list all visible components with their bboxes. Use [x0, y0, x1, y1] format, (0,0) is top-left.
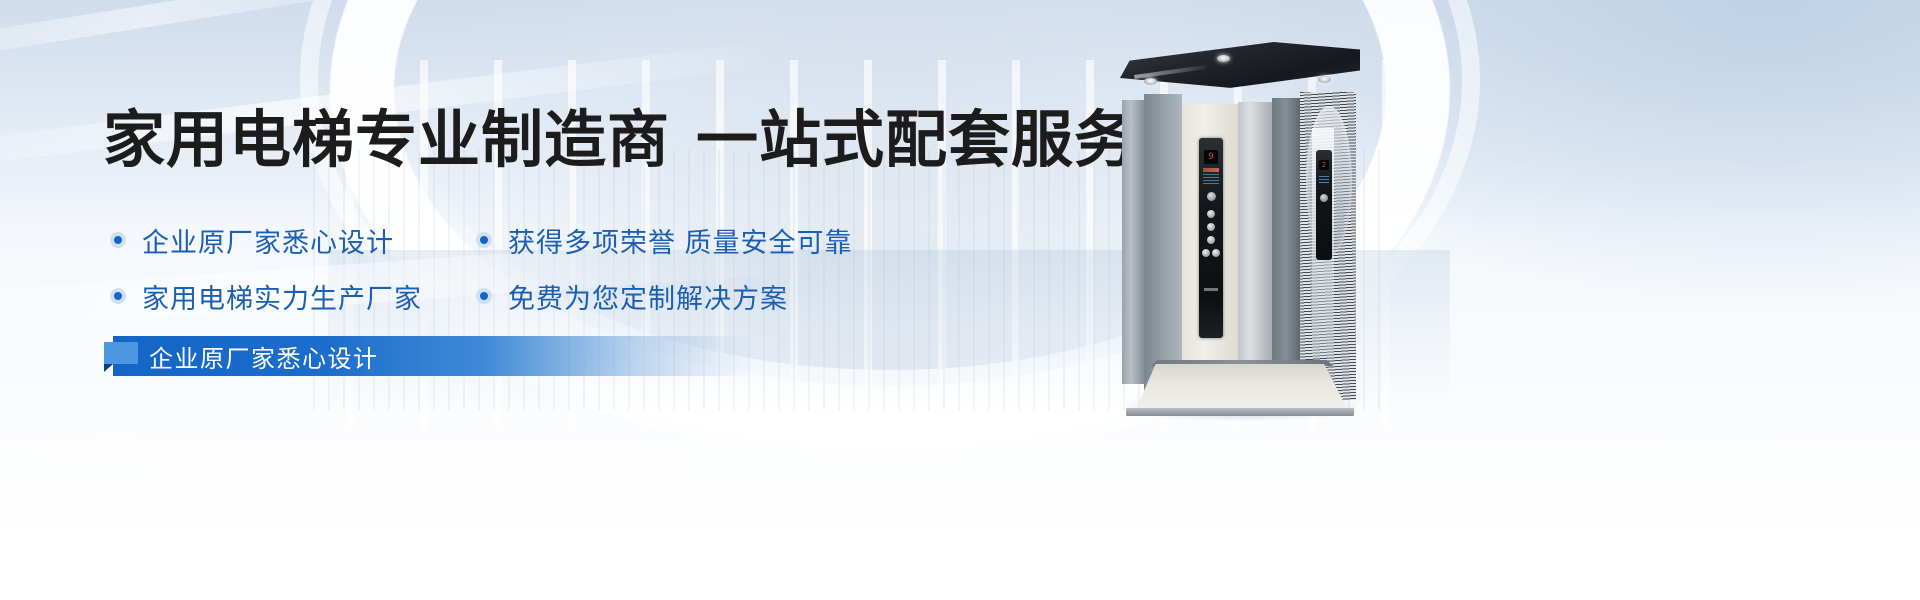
bullet-row: 企业原厂家悉心设计 获得多项荣誉 质量安全可靠 — [110, 212, 900, 268]
cabin-left-panel — [1144, 94, 1182, 396]
bullet-row: 家用电梯实力生产厂家 免费为您定制解决方案 — [110, 268, 900, 324]
highlight-ribbon: 企业原厂家悉心设计 — [113, 336, 753, 376]
panel-brand-logo-icon — [1203, 168, 1219, 172]
cabin-mid-panel — [1238, 102, 1272, 386]
cabin-left-jamb — [1122, 100, 1144, 384]
bullet-dot-icon — [476, 232, 492, 248]
banner-headline: 家用电梯专业制造商一站式配套服务 — [103, 110, 1137, 172]
ribbon-label: 企业原厂家悉心设计 — [149, 336, 379, 376]
bullet-label: 免费为您定制解决方案 — [508, 277, 788, 316]
bullet-item: 家用电梯实力生产厂家 — [110, 277, 476, 316]
floor-indicator-display: 9 — [1204, 150, 1218, 164]
floor-button[interactable] — [1207, 210, 1215, 218]
headline-part-1: 家用电梯专业制造商 — [103, 106, 670, 175]
elevator-cabin-image: 9 2 — [1120, 42, 1360, 414]
bullet-dot-icon — [110, 232, 126, 248]
floor-button[interactable] — [1207, 223, 1215, 231]
bullet-label: 获得多项荣誉 质量安全可靠 — [508, 221, 853, 260]
panel-sub-display-reflection — [1319, 176, 1329, 184]
bullet-label: 家用电梯实力生产厂家 — [142, 277, 422, 316]
bullet-item: 免费为您定制解决方案 — [476, 277, 842, 316]
cabin-floor — [1134, 364, 1350, 414]
bullet-dot-icon — [110, 288, 126, 304]
bullet-item: 企业原厂家悉心设计 — [110, 221, 476, 260]
cabin-door-sill — [1126, 408, 1354, 416]
ribbon-fold-icon — [104, 342, 138, 364]
ceiling-spotlight-icon — [1318, 76, 1331, 83]
elevator-control-panel[interactable]: 9 — [1199, 138, 1223, 338]
panel-main-button[interactable] — [1207, 192, 1216, 201]
bullet-item: 获得多项荣誉 质量安全可靠 — [476, 221, 842, 260]
hero-banner: 家用电梯专业制造商一站式配套服务 企业原厂家悉心设计 获得多项荣誉 质量安全可靠… — [0, 0, 1920, 600]
floor-indicator-display-reflection: 2 — [1319, 160, 1329, 170]
elevator-control-panel-reflection: 2 — [1316, 150, 1332, 260]
headline-part-2: 一站式配套服务 — [696, 106, 1137, 175]
door-close-button[interactable] — [1212, 249, 1220, 257]
bullet-label: 企业原厂家悉心设计 — [142, 221, 394, 260]
ceiling-spotlight-icon — [1217, 55, 1230, 62]
feature-bullet-list: 企业原厂家悉心设计 获得多项荣誉 质量安全可靠 家用电梯实力生产厂家 免费为您定… — [110, 212, 900, 324]
panel-main-button-reflection — [1320, 194, 1328, 202]
panel-sub-display — [1203, 174, 1219, 184]
panel-brand-text-icon — [1204, 288, 1218, 291]
ceiling-light-strip — [1134, 65, 1206, 79]
door-open-button[interactable] — [1202, 249, 1210, 257]
cabin-corner-column — [1272, 98, 1300, 392]
floor-button[interactable] — [1207, 236, 1215, 244]
bullet-dot-icon — [476, 288, 492, 304]
banner-content: 家用电梯专业制造商一站式配套服务 企业原厂家悉心设计 获得多项荣誉 质量安全可靠… — [0, 0, 1920, 600]
ceiling-spotlight-icon — [1144, 78, 1157, 85]
